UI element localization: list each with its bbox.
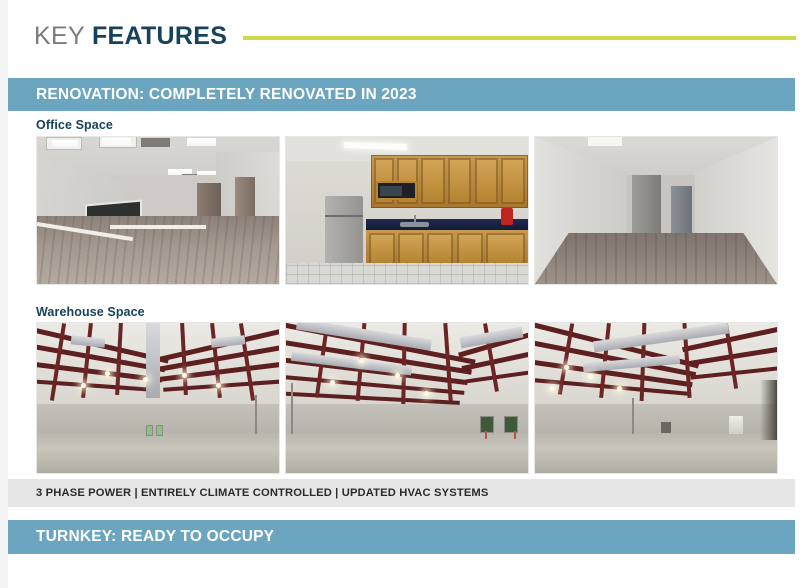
equipment xyxy=(146,425,153,436)
floor xyxy=(286,433,528,474)
faucet xyxy=(414,215,416,222)
high-bay-light xyxy=(330,380,335,385)
glass-entry-door xyxy=(504,416,519,433)
photo-warehouse-truss-bay[interactable] xyxy=(534,322,778,474)
water-heater xyxy=(671,186,693,233)
page-title-light: KEY xyxy=(34,22,85,50)
high-bay-light xyxy=(424,391,429,396)
equipment xyxy=(156,425,163,436)
ridge-duct xyxy=(146,323,161,398)
ceiling-light xyxy=(102,138,131,145)
hvac-air-handler xyxy=(632,175,661,234)
ceiling-light xyxy=(588,137,622,146)
refrigerator xyxy=(325,196,364,265)
photo-office-kitchen[interactable] xyxy=(285,136,529,285)
section-label-office-space: Office Space xyxy=(36,118,113,132)
page-title-bold: FEATURES xyxy=(92,22,227,50)
high-bay-light xyxy=(359,358,364,363)
header-accent-rule xyxy=(243,36,796,40)
high-bay-light xyxy=(81,383,86,388)
feature-strip-text: 3 PHASE POWER | ENTIRELY CLIMATE CONTROL… xyxy=(36,487,489,499)
bollard xyxy=(485,431,487,439)
ceiling-vent xyxy=(141,138,170,147)
high-bay-light xyxy=(105,371,110,376)
photo-warehouse-duct-bay[interactable] xyxy=(285,322,529,474)
equipment xyxy=(661,422,671,433)
support-column xyxy=(255,395,257,434)
floor xyxy=(535,233,777,284)
photo-row-office-space xyxy=(36,136,778,285)
tile-floor xyxy=(286,263,528,284)
support-column xyxy=(632,398,634,434)
banner-turnkey: TURNKEY: READY TO OCCUPY xyxy=(8,520,795,554)
high-bay-light xyxy=(564,365,569,370)
man-door xyxy=(729,416,744,434)
refrigerator-door-seam xyxy=(325,215,364,217)
page-left-margin xyxy=(0,0,8,588)
photo-row-warehouse-space xyxy=(36,322,778,474)
baseboard xyxy=(110,225,207,229)
high-bay-light xyxy=(395,373,400,378)
floor xyxy=(535,433,777,474)
slide-page: KEYFEATURES RENOVATION: COMPLETELY RENOV… xyxy=(0,0,807,588)
page-header: KEYFEATURES xyxy=(8,14,796,58)
lower-cabinets xyxy=(366,230,528,268)
floor xyxy=(37,433,279,474)
microwave-window xyxy=(380,186,402,196)
high-bay-light xyxy=(550,386,555,391)
section-label-warehouse-space: Warehouse Space xyxy=(36,305,145,319)
sink xyxy=(400,222,429,228)
page-right-margin xyxy=(796,0,807,588)
high-bay-light xyxy=(182,373,187,378)
fire-extinguisher xyxy=(501,208,513,226)
bollard xyxy=(514,431,516,439)
support-column xyxy=(291,383,293,434)
photo-warehouse-symmetric-bay[interactable] xyxy=(36,322,280,474)
ceiling-light xyxy=(52,140,79,147)
feature-strip: 3 PHASE POWER | ENTIRELY CLIMATE CONTROL… xyxy=(8,479,795,507)
banner-renovation: RENOVATION: COMPLETELY RENOVATED IN 2023 xyxy=(8,78,795,111)
ceiling-light xyxy=(187,138,216,145)
corner-shadow xyxy=(760,380,777,440)
page-title: KEYFEATURES xyxy=(34,22,227,51)
photo-office-empty-room[interactable] xyxy=(36,136,280,285)
photo-office-hallway-mechanical[interactable] xyxy=(534,136,778,285)
